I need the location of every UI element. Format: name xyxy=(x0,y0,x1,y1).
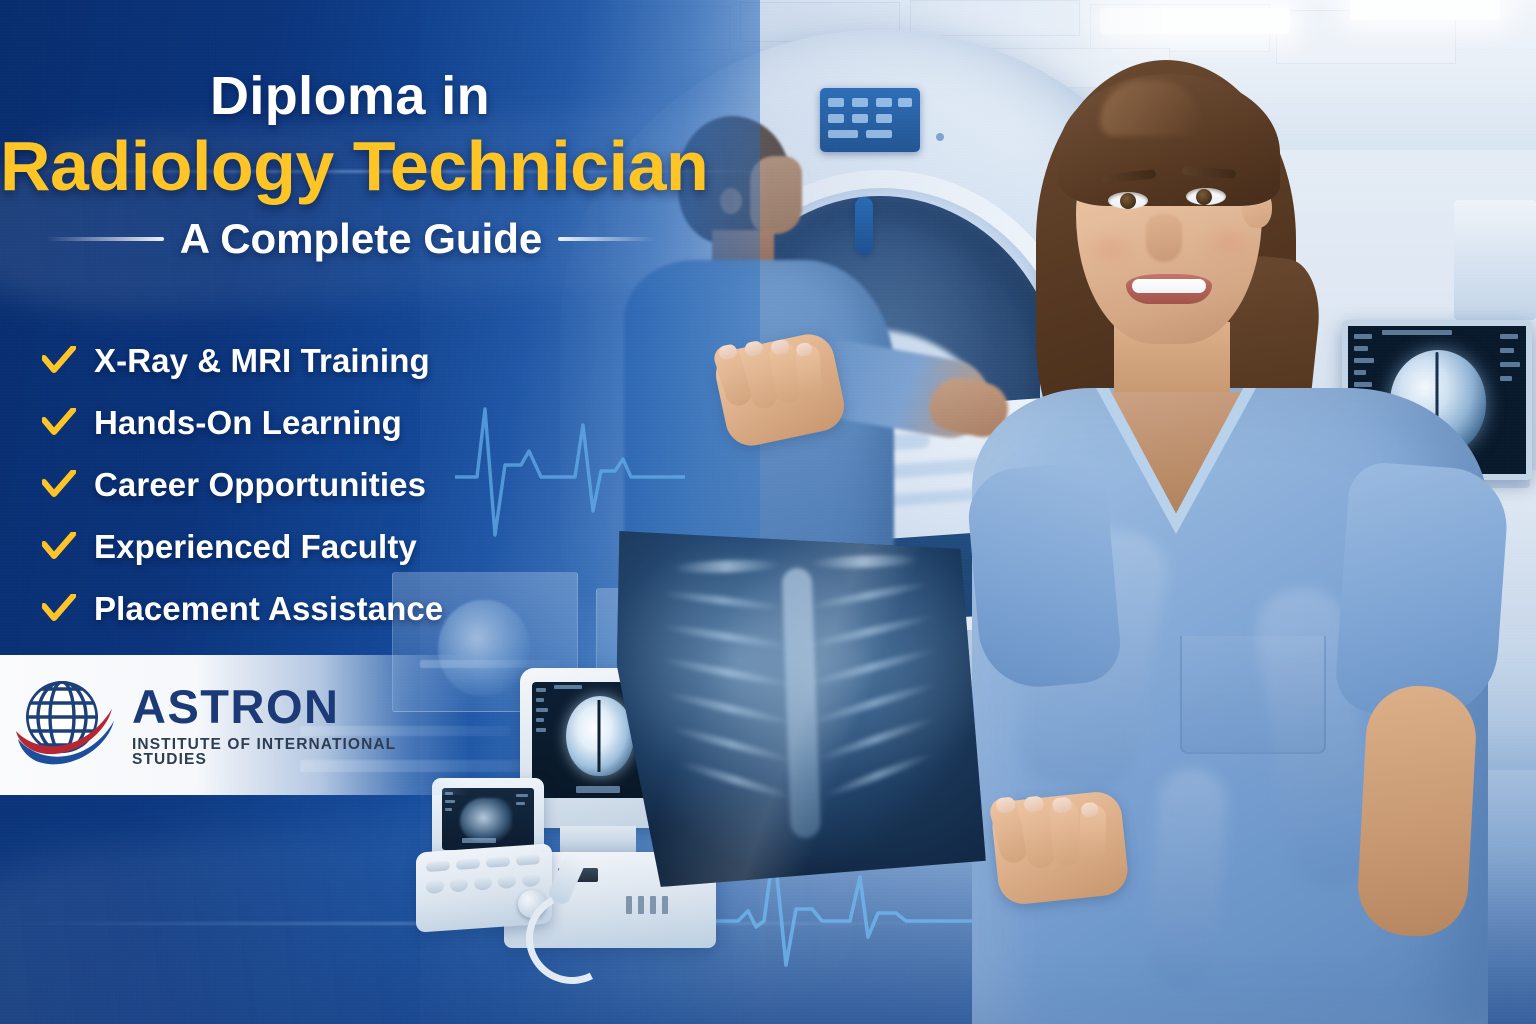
nose xyxy=(1146,214,1182,262)
scrubs-pocket xyxy=(1180,636,1326,754)
feature-item: Hands-On Learning xyxy=(42,392,562,454)
teeth xyxy=(1132,279,1206,293)
subtitle-row: A Complete Guide xyxy=(0,215,700,263)
promotional-banner: Diploma in Radiology Technician A Comple… xyxy=(0,0,1536,1024)
feature-list: X-Ray & MRI Training Hands-On Learning C… xyxy=(42,330,562,640)
chest-xray-film xyxy=(612,504,987,888)
feature-label: Career Opportunities xyxy=(94,466,426,504)
logo-name: ASTRON xyxy=(132,683,470,730)
iris xyxy=(1196,189,1212,205)
check-icon xyxy=(42,346,76,376)
feature-label: Hands-On Learning xyxy=(94,404,402,442)
cheek-blush xyxy=(1202,226,1256,260)
film-sheen xyxy=(612,504,987,888)
feature-item: Experienced Faculty xyxy=(42,516,562,578)
feature-item: Career Opportunities xyxy=(42,454,562,516)
feature-label: Experienced Faculty xyxy=(94,528,417,566)
subtitle-text: A Complete Guide xyxy=(180,215,542,263)
check-icon xyxy=(42,532,76,562)
divider-rule-left xyxy=(46,237,164,241)
right-hand-holding-xray xyxy=(990,789,1130,906)
feature-item: Placement Assistance xyxy=(42,578,562,640)
check-icon xyxy=(42,408,76,438)
feature-label: Placement Assistance xyxy=(94,590,443,628)
ultrasound-secondary-display xyxy=(442,788,534,850)
right-forearm xyxy=(1356,683,1479,938)
left-sleeve xyxy=(965,460,1124,691)
cheek-blush xyxy=(1084,232,1138,266)
feature-item: X-Ray & MRI Training xyxy=(42,330,562,392)
feature-label: X-Ray & MRI Training xyxy=(94,342,430,380)
logo-text-block: ASTRON INSTITUTE OF INTERNATIONAL STUDIE… xyxy=(132,683,470,768)
logo-tagline: INSTITUTE OF INTERNATIONAL STUDIES xyxy=(132,737,470,768)
female-radiology-technician xyxy=(950,36,1510,1024)
kicker-text: Diploma in xyxy=(0,68,700,124)
check-icon xyxy=(42,594,76,624)
logo-bar: ASTRON INSTITUTE OF INTERNATIONAL STUDIE… xyxy=(0,655,470,795)
check-icon xyxy=(42,470,76,500)
page-title: Radiology Technician xyxy=(0,130,700,203)
ultrasound-scan-image xyxy=(460,798,512,842)
globe-swoosh-icon xyxy=(14,673,118,777)
smiling-mouth xyxy=(1126,274,1212,304)
divider-rule-right xyxy=(558,237,654,241)
iris xyxy=(1120,193,1136,209)
headline-block: Diploma in Radiology Technician A Comple… xyxy=(0,68,700,263)
right-sleeve xyxy=(1333,461,1510,722)
